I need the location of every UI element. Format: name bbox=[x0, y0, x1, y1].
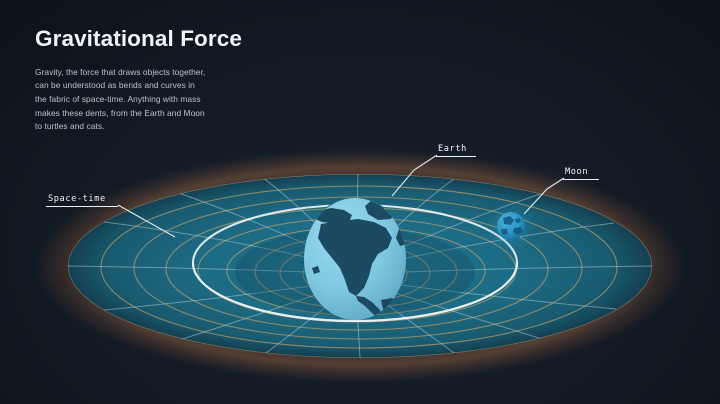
page-description: Gravity, the force that draws objects to… bbox=[35, 66, 207, 134]
callout-text-space-time: Space-time bbox=[46, 194, 118, 206]
callout-text-earth: Earth bbox=[436, 144, 476, 156]
page-title: Gravitational Force bbox=[35, 27, 295, 52]
infographic-canvas: Gravitational Force Gravity, the force t… bbox=[0, 0, 720, 404]
callout-label-earth: Earth bbox=[436, 144, 476, 157]
callout-underline-earth bbox=[436, 156, 476, 157]
callout-label-moon: Moon bbox=[563, 167, 599, 180]
callout-underline-moon bbox=[563, 179, 599, 180]
callout-underline-space-time bbox=[46, 206, 118, 207]
callout-text-moon: Moon bbox=[563, 167, 599, 179]
callout-label-space-time: Space-time bbox=[46, 194, 118, 207]
header-block: Gravitational Force Gravity, the force t… bbox=[35, 27, 295, 134]
